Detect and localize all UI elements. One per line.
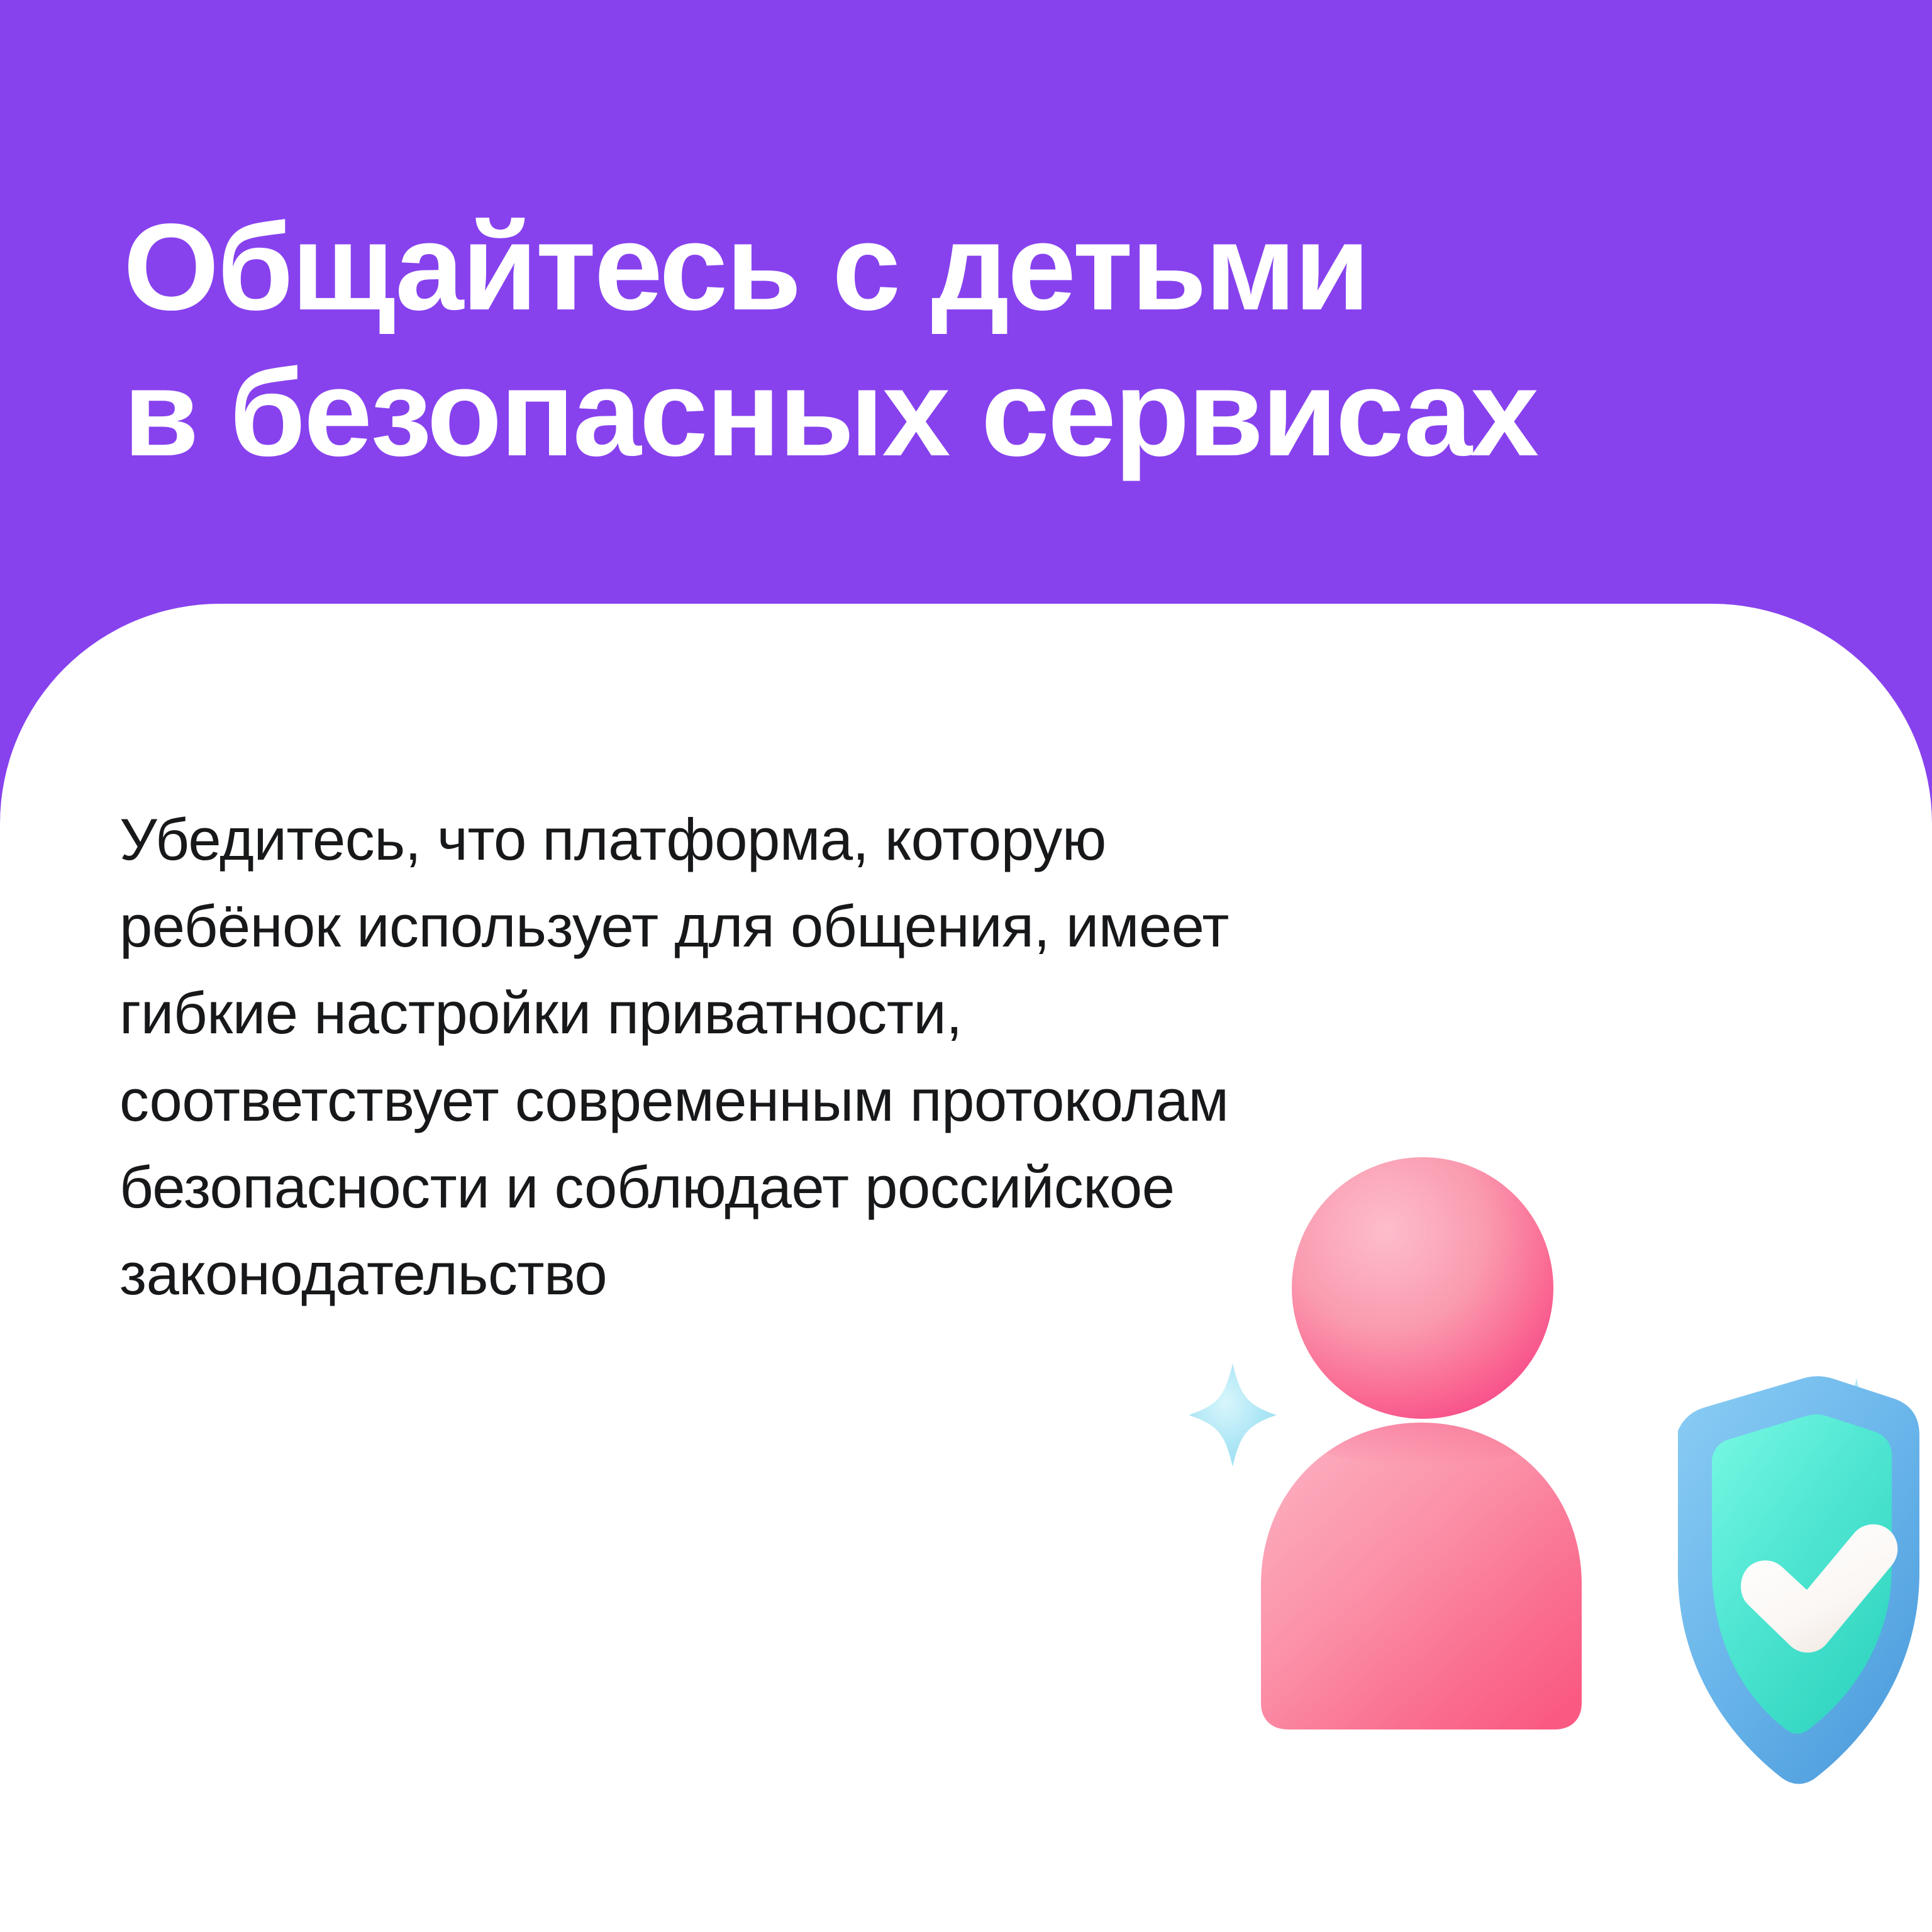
person-body [1261, 1390, 1582, 1729]
person-head [1292, 1157, 1553, 1419]
slide-root: Общайтесь с детьми в безопасных сервисах… [0, 0, 1932, 1932]
secure-user-shield-illustration [1151, 1132, 1932, 1874]
sparkle-left-icon [1189, 1363, 1277, 1467]
page-title: Общайтесь с детьми в безопасных сервисах [123, 194, 1821, 486]
